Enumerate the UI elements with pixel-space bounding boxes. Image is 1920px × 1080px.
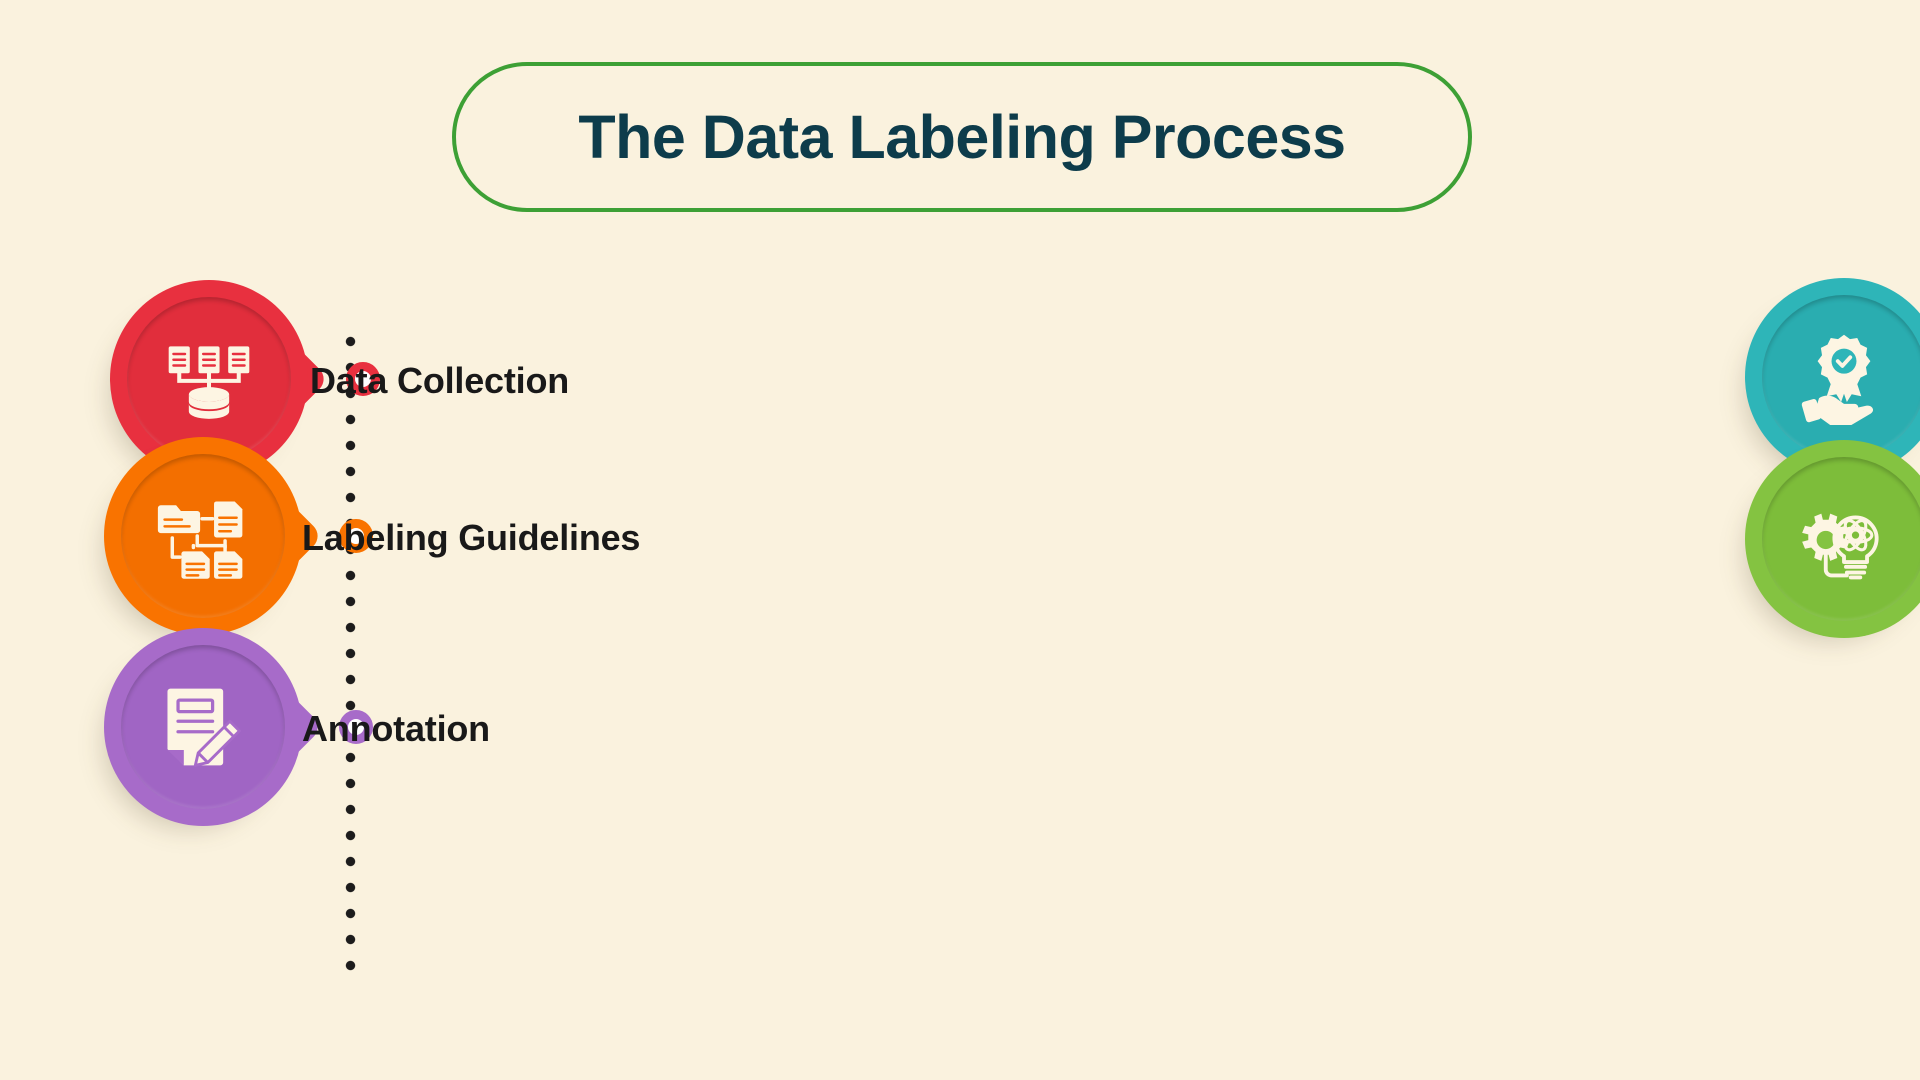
step-label-annotation: Annotation (302, 708, 490, 750)
step-label-labeling-guidelines: Labeling Guidelines (302, 517, 640, 559)
title-badge: The Data Labeling Process (452, 62, 1472, 212)
folder-documents-tree-icon (121, 454, 285, 618)
page-title: The Data Labeling Process (578, 102, 1345, 172)
step-icon-badge-labeling-guidelines[interactable] (104, 437, 302, 635)
step-annotation[interactable]: Annotation (104, 628, 804, 828)
step-icon-badge-annotation[interactable] (104, 628, 302, 826)
step-model-training[interactable]: Model Training and Validation (1745, 440, 1920, 640)
step-icon-badge-model-training[interactable] (1745, 440, 1920, 638)
infographic-canvas: The Data Labeling Process (0, 0, 1920, 1080)
document-pencil-icon (121, 645, 285, 809)
gear-lightbulb-atom-icon (1762, 457, 1920, 621)
step-label-data-collection: Data Collection (310, 360, 569, 402)
step-labeling-guidelines[interactable]: Labeling Guidelines (104, 437, 804, 637)
hand-quality-badge-icon (1762, 295, 1920, 459)
